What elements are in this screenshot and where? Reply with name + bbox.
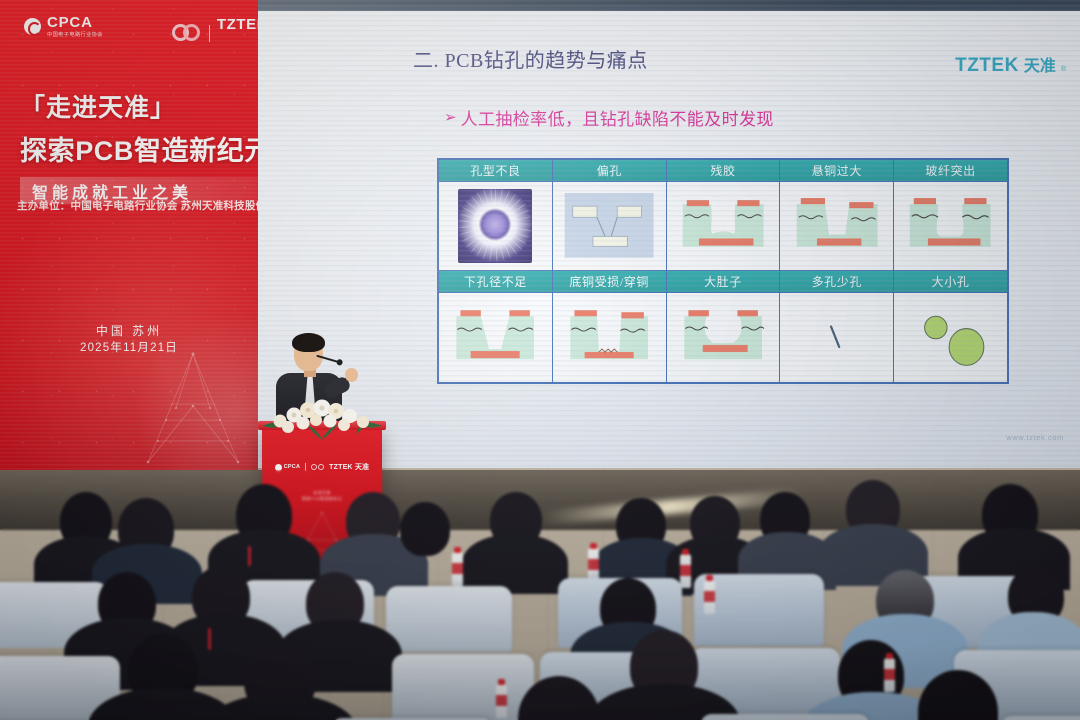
tztek-logo-banner: TZTEK 天准 <box>217 16 258 50</box>
logo-divider <box>209 25 210 42</box>
cpca-chinese-name: 中国电子电路行业协会 <box>47 33 103 38</box>
banner-headline-block: 「走进天准」 探索PCB智造新纪元 智能成就工业之美 <box>20 88 258 204</box>
banner-wireframe-graphic <box>118 346 258 470</box>
speaker-hair <box>292 333 325 352</box>
audience-blur-layer <box>0 470 1080 720</box>
banner-place: 中国 苏州 <box>0 322 258 339</box>
flower-arrangement <box>258 396 386 442</box>
banner-date: 2025年11月21日 <box>0 339 258 355</box>
tztek-latin: TZTEK <box>217 16 258 33</box>
cpca-name: CPCA <box>47 15 103 30</box>
banner-logo-row: CPCA 中国电子电路行业协会 TZTEK 天准 <box>0 13 258 47</box>
conference-photo-stage: CPCA 中国电子电路行业协会 TZTEK 天准 「走进天准」 探索PCB智造新… <box>0 0 1080 720</box>
anniversary-20-icon <box>172 23 202 43</box>
cpca-logo: CPCA 中国电子电路行业协会 <box>24 15 103 38</box>
banner-headline-2: 探索PCB智造新纪元 <box>20 129 258 168</box>
cpca-logo-text: CPCA 中国电子电路行业协会 <box>47 15 103 38</box>
event-banner: CPCA 中国电子电路行业协会 TZTEK 天准 「走进天准」 探索PCB智造新… <box>0 0 258 470</box>
audience-seating <box>0 470 1080 720</box>
cpca-mark-icon <box>24 18 41 35</box>
anniversary-and-company-logo: TZTEK 天准 <box>172 16 258 50</box>
speaker-hand <box>345 368 358 382</box>
banner-sponsor-line: 主办单位：中国电子电路行业协会 苏州天准科技股份有限公司 <box>17 198 258 213</box>
banner-headline-1: 「走进天准」 <box>20 88 258 124</box>
